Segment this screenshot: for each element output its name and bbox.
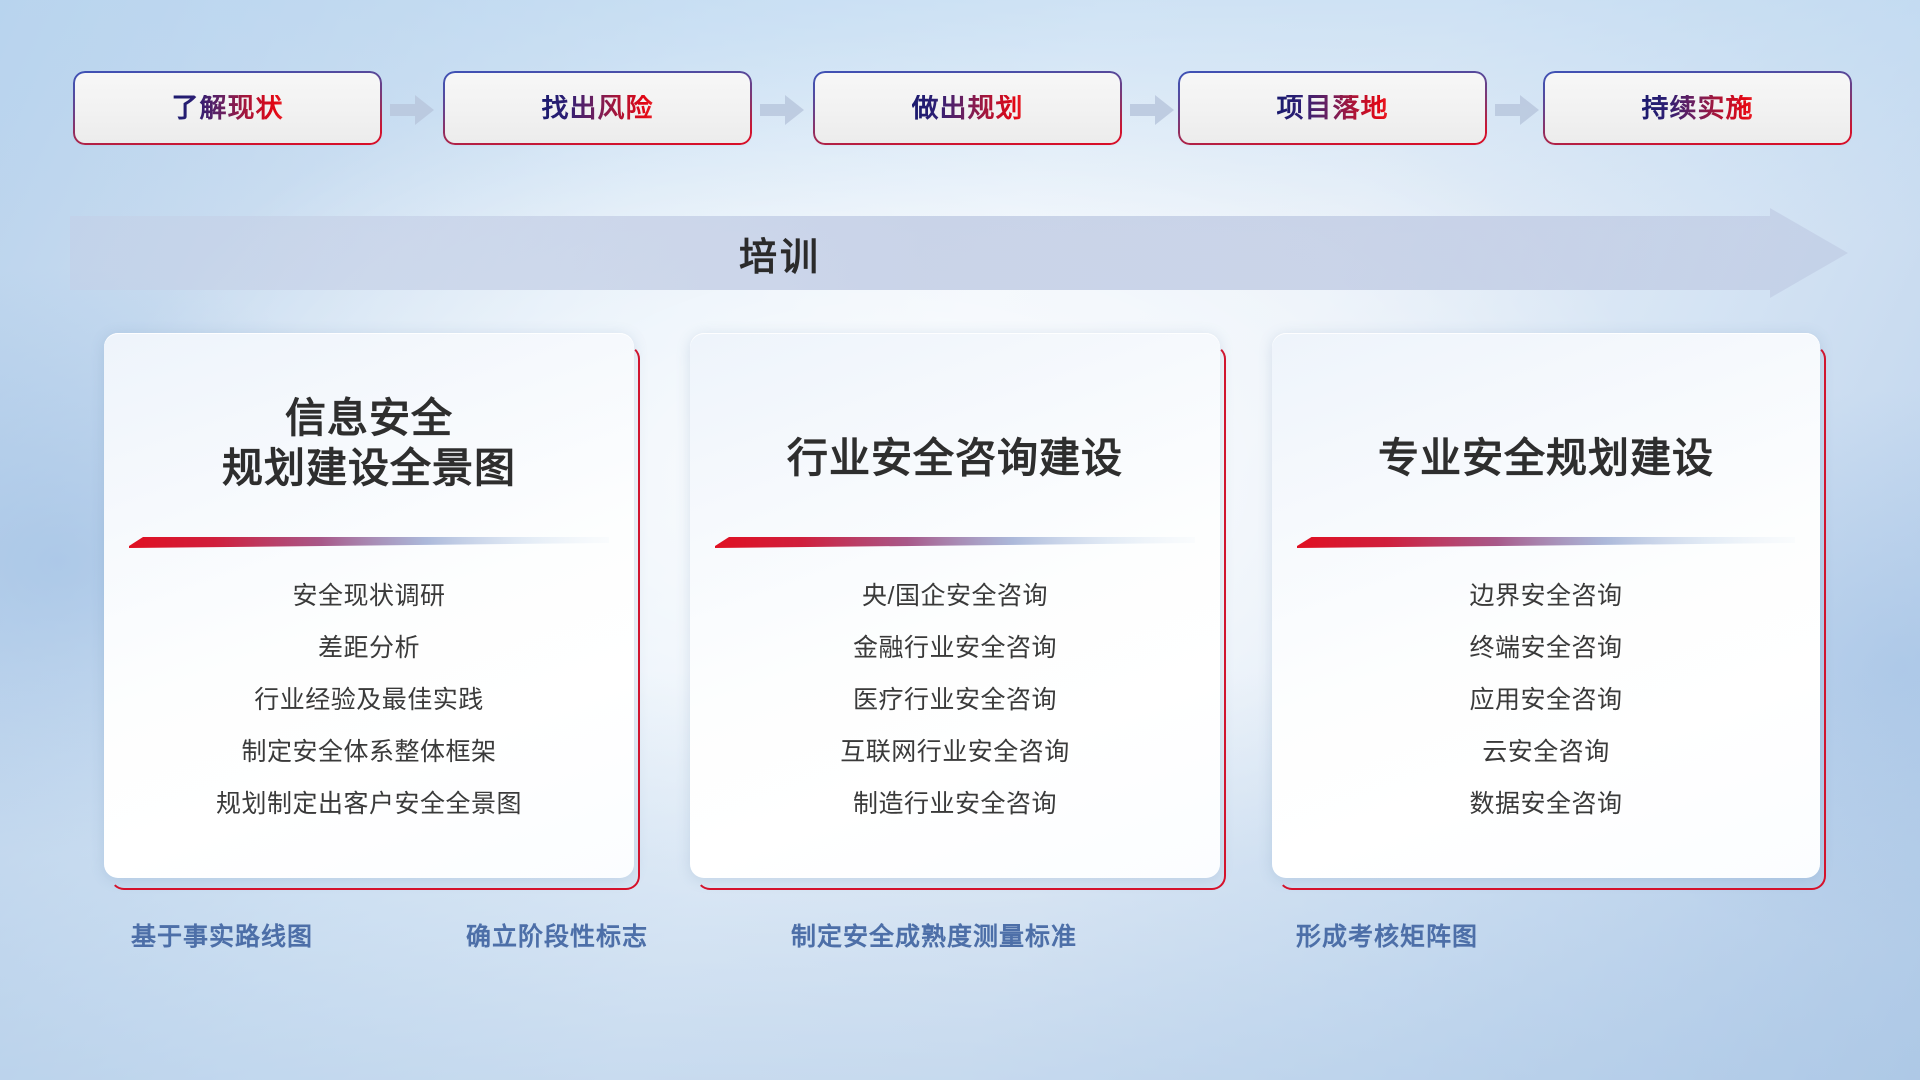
card-2-title: 行业安全咨询建设 <box>690 403 1220 513</box>
card-3-item-2: 终端安全咨询 <box>1469 622 1622 674</box>
card-3[interactable]: 专业安全规划建设 <box>1272 333 1820 878</box>
card-2-item-1: 央/国企安全咨询 <box>862 570 1048 622</box>
card-3-divider <box>1297 535 1795 548</box>
card-1-item-3: 行业经验及最佳实践 <box>254 674 484 726</box>
training-banner-label: 培训 <box>739 226 821 281</box>
card-2[interactable]: 行业安全咨询建设 <box>690 333 1220 878</box>
card-2-item-list: 央/国企安全咨询 金融行业安全咨询 医疗行业安全咨询 互联网行业安全咨询 制造行… <box>690 570 1220 830</box>
card-3-item-5: 数据安全咨询 <box>1469 778 1622 830</box>
card-2-item-5: 制造行业安全咨询 <box>853 778 1057 830</box>
card-1-divider <box>129 535 609 548</box>
card-1-title: 信息安全 规划建设全景图 <box>104 373 634 513</box>
card-2-title-line-1: 行业安全咨询建设 <box>787 433 1123 483</box>
card-1-panel: 信息安全 规划建设全景图 <box>104 333 634 878</box>
card-1-title-line-1: 信息安全 <box>285 393 453 443</box>
card-2-item-3: 医疗行业安全咨询 <box>853 674 1057 726</box>
caption-3: 制定安全成熟度测量标准 <box>791 915 1077 955</box>
card-1-item-2: 差距分析 <box>318 622 420 674</box>
caption-4: 形成考核矩阵图 <box>1296 915 1478 955</box>
card-2-item-2: 金融行业安全咨询 <box>853 622 1057 674</box>
card-2-item-4: 互联网行业安全咨询 <box>840 726 1070 778</box>
training-banner-label-wrap: 培训 <box>0 208 1560 298</box>
card-1-item-4: 制定安全体系整体框架 <box>241 726 496 778</box>
card-1-title-line-2: 规划建设全景图 <box>222 443 516 493</box>
card-3-item-1: 边界安全咨询 <box>1469 570 1622 622</box>
caption-2: 确立阶段性标志 <box>466 915 648 955</box>
card-1-item-5: 规划制定出客户安全全景图 <box>216 778 522 830</box>
card-3-title-line-1: 专业安全规划建设 <box>1378 433 1714 483</box>
card-3-item-list: 边界安全咨询 终端安全咨询 应用安全咨询 云安全咨询 数据安全咨询 <box>1272 570 1820 830</box>
card-1-item-1: 安全现状调研 <box>292 570 445 622</box>
card-1-item-list: 安全现状调研 差距分析 行业经验及最佳实践 制定安全体系整体框架 规划制定出客户… <box>104 570 634 830</box>
card-3-title: 专业安全规划建设 <box>1272 403 1820 513</box>
card-2-divider <box>715 535 1195 548</box>
card-3-item-4: 云安全咨询 <box>1482 726 1610 778</box>
card-3-item-3: 应用安全咨询 <box>1469 674 1622 726</box>
caption-1: 基于事实路线图 <box>131 915 313 955</box>
card-1[interactable]: 信息安全 规划建设全景图 <box>104 333 634 878</box>
card-2-panel: 行业安全咨询建设 <box>690 333 1220 878</box>
card-3-panel: 专业安全规划建设 <box>1272 333 1820 878</box>
caption-row: 基于事实路线图 确立阶段性标志 制定安全成熟度测量标准 形成考核矩阵图 <box>0 915 1920 975</box>
